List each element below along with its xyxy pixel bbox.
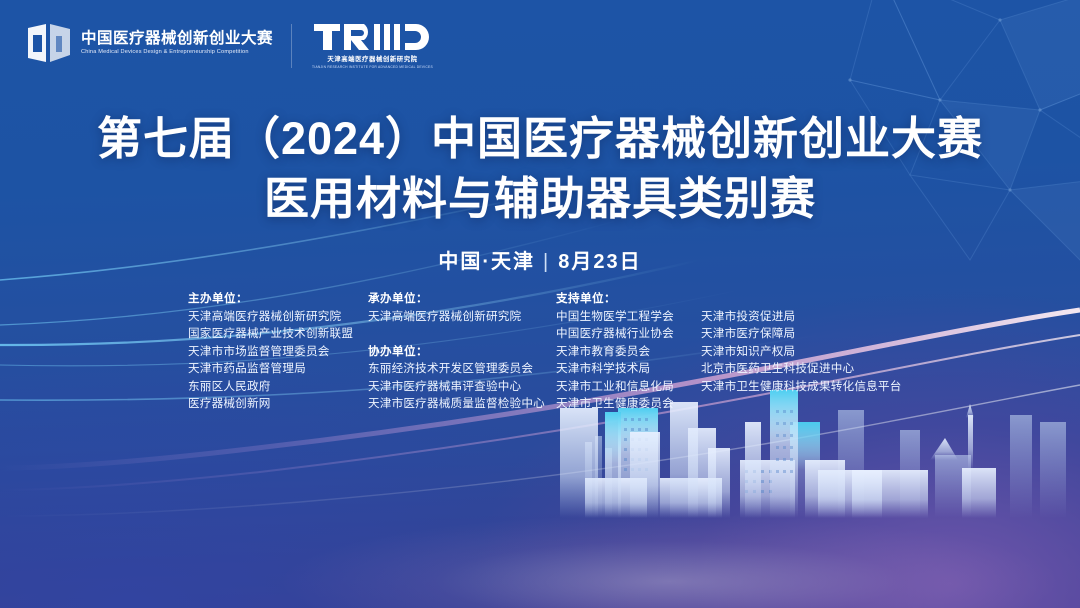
org-item: 天津市卫生健康委员会 (556, 395, 689, 413)
bottom-glow (0, 418, 1080, 608)
logo-primary-text: 中国医疗器械创新创业大赛 China Medical Devices Desig… (81, 31, 273, 54)
poster-title-line2: 医用材料与辅助器具类别赛 (0, 172, 1080, 225)
poster-title-line1: 第七届（2024）中国医疗器械创新创业大赛 (0, 112, 1080, 165)
org-item: 天津市医疗保障局 (701, 325, 906, 343)
supporter-list-right: 天津市投资促进局 天津市医疗保障局 天津市知识产权局 北京市医药卫生科技促进中心… (701, 308, 906, 413)
organizers-column-organizer: 承办单位： 天津高端医疗器械创新研究院 协办单位： 东丽经济技术开发区管理委员会… (368, 290, 556, 413)
triid-wordmark-icon (312, 22, 432, 52)
logo-secondary: 天津高端医疗器械创新研究院 TIANJIN RESEARCH INSTITUTE… (312, 22, 433, 69)
org-item: 医疗器械创新网 (188, 395, 368, 413)
org-item: 北京市医药卫生科技促进中心 (701, 360, 906, 378)
header-logos: 中国医疗器械创新创业大赛 China Medical Devices Desig… (26, 22, 433, 69)
logo-divider (291, 24, 292, 68)
organizers-block: 主办单位： 天津高端医疗器械创新研究院 国家医疗器械产业技术创新联盟 天津市市场… (188, 290, 948, 413)
subtitle-separator: | (543, 251, 550, 274)
poster-subtitle: 中国·天津|8月23日 (0, 245, 1080, 274)
org-item: 天津高端医疗器械创新研究院 (188, 308, 368, 326)
org-item: 天津市科学技术局 (556, 360, 689, 378)
org-item: 东丽经济技术开发区管理委员会 (368, 360, 556, 378)
org-spacer (368, 325, 556, 343)
org-item: 天津市工业和信息化局 (556, 378, 689, 396)
org-item: 天津市卫生健康科技成果转化信息平台 (701, 378, 906, 396)
open-book-door-logo-icon (26, 22, 72, 64)
logo-secondary-cn: 天津高端医疗器械创新研究院 (327, 54, 417, 63)
org-heading-host: 主办单位： (188, 290, 368, 308)
org-item: 中国生物医学工程学会 (556, 308, 689, 326)
logo-secondary-en: TIANJIN RESEARCH INSTITUTE FOR ADVANCED … (312, 65, 433, 69)
org-item: 天津市教育委员会 (556, 343, 689, 361)
org-item: 天津市市场监督管理委员会 (188, 343, 368, 361)
logo-primary-en: China Medical Devices Design & Entrepren… (81, 49, 273, 55)
organizers-column-supporter: 支持单位： 中国生物医学工程学会 中国医疗器械行业协会 天津市教育委员会 天津市… (556, 290, 906, 413)
supporter-lists: 中国生物医学工程学会 中国医疗器械行业协会 天津市教育委员会 天津市科学技术局 … (556, 308, 906, 413)
logo-primary: 中国医疗器械创新创业大赛 China Medical Devices Desig… (26, 22, 273, 64)
poster-canvas: 中国医疗器械创新创业大赛 China Medical Devices Desig… (0, 0, 1080, 608)
org-item: 天津高端医疗器械创新研究院 (368, 308, 556, 326)
subtitle-date: 8月23日 (558, 251, 641, 273)
org-item: 中国医疗器械行业协会 (556, 325, 689, 343)
org-item: 天津市投资促进局 (701, 308, 906, 326)
org-item: 天津市医疗器械质量监督检验中心 (368, 395, 556, 413)
org-item: 国家医疗器械产业技术创新联盟 (188, 325, 368, 343)
supporter-list-left: 中国生物医学工程学会 中国医疗器械行业协会 天津市教育委员会 天津市科学技术局 … (556, 308, 689, 413)
subtitle-location: 中国·天津 (438, 251, 535, 273)
org-item: 东丽区人民政府 (188, 378, 368, 396)
org-item: 天津市医疗器械串评查验中心 (368, 378, 556, 396)
title-block: 第七届（2024）中国医疗器械创新创业大赛 医用材料与辅助器具类别赛 中国·天津… (0, 112, 1080, 274)
org-heading-supporter: 支持单位： (556, 290, 906, 308)
logo-primary-cn: 中国医疗器械创新创业大赛 (81, 31, 273, 47)
org-heading-coorganizer: 协办单位： (368, 343, 556, 361)
org-heading-organizer: 承办单位： (368, 290, 556, 308)
organizers-column-host: 主办单位： 天津高端医疗器械创新研究院 国家医疗器械产业技术创新联盟 天津市市场… (188, 290, 368, 413)
org-item: 天津市知识产权局 (701, 343, 906, 361)
org-item: 天津市药品监督管理局 (188, 360, 368, 378)
